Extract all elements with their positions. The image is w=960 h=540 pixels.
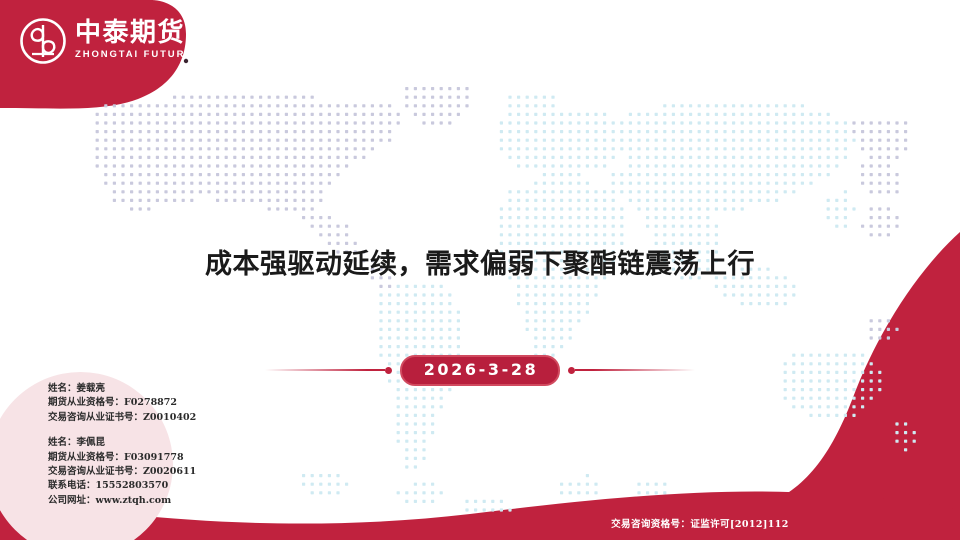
footer-license-text: 交易咨询资格号：证监许可[2012]112 <box>0 516 960 530</box>
date-badge: 2026-3-28 <box>400 355 561 386</box>
contact-group: 姓名：李佩昆 期货从业资格号：F03091778 交易咨询从业证书号：Z0020… <box>48 436 196 508</box>
contact-line: 交易咨询从业证书号：Z0010402 <box>48 411 196 425</box>
brand-logo: 中泰期货 ZHONGTAI FUTURES <box>18 16 202 66</box>
contact-line: 期货从业资格号：F0278872 <box>48 396 196 410</box>
contact-line: 公司网址：www.ztqh.com <box>48 494 196 508</box>
date-knob-right <box>568 367 575 374</box>
brand-name-cn: 中泰期货 <box>75 19 185 47</box>
zhongtai-circle-logo-icon <box>18 16 68 66</box>
contact-line: 姓名：姜载亮 <box>48 382 196 396</box>
date-rule-left <box>265 369 385 371</box>
date-rule-right <box>575 369 695 371</box>
date-knob-left <box>385 367 392 374</box>
contact-line: 联系电话：15552803570 <box>48 479 196 493</box>
page-title: 成本强驱动延续，需求偏弱下聚酯链震荡上行 <box>0 242 960 281</box>
contact-line: 交易咨询从业证书号：Z0020611 <box>48 465 196 479</box>
date-badge-row: 2026-3-28 <box>0 355 960 385</box>
map-dot-grid <box>96 87 916 512</box>
brand-name-en: ZHONGTAI FUTURES <box>75 48 202 62</box>
contact-line: 姓名：李佩昆 <box>48 436 196 450</box>
contact-group: 姓名：姜载亮 期货从业资格号：F0278872 交易咨询从业证书号：Z00104… <box>48 382 196 425</box>
title-slide: 中泰期货 ZHONGTAI FUTURES 成本强驱动延续，需求偏弱下聚酯链震荡… <box>0 0 960 540</box>
contact-line: 期货从业资格号：F03091778 <box>48 451 196 465</box>
contact-info: 姓名：姜载亮 期货从业资格号：F0278872 交易咨询从业证书号：Z00104… <box>48 382 196 508</box>
